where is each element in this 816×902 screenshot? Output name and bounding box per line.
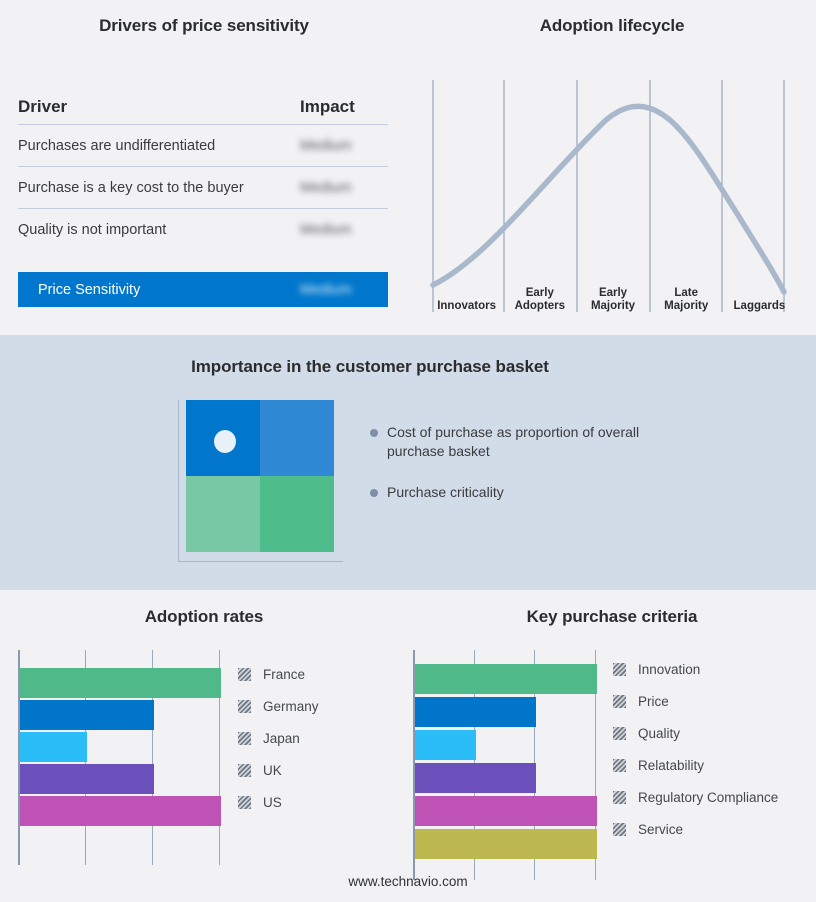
legend-item-service[interactable]: Service [613, 813, 778, 845]
impact-value-text: Medium [300, 138, 352, 154]
legend-item-purchase-criticality: Purchase criticality [370, 483, 700, 502]
bar-regulatory-compliance[interactable] [415, 796, 597, 826]
price-sensitivity-impact-redacted: Medium [300, 281, 388, 299]
hatch-swatch-icon [613, 663, 626, 676]
lifecycle-stage-late-majority: Late Majority [650, 273, 723, 313]
legend-item-us[interactable]: US [238, 786, 319, 818]
bell-curve-line [433, 106, 784, 292]
lifecycle-stage-labels: Innovators Early Adopters Early Majority… [430, 273, 796, 313]
stage-label-line: Laggards [734, 300, 786, 313]
hatch-swatch-icon [238, 700, 251, 713]
column-header-impact: Impact [300, 97, 388, 117]
bar-france[interactable] [20, 668, 221, 698]
legend-item-relatability[interactable]: Relatability [613, 749, 778, 781]
impact-value-text: Medium [300, 282, 352, 298]
legend-label: Germany [263, 699, 319, 714]
hatch-swatch-icon [238, 732, 251, 745]
impact-value-text: Medium [300, 222, 352, 238]
legend-item-label: Purchase criticality [387, 483, 504, 502]
footer-website-url[interactable]: www.technavio.com [0, 874, 816, 889]
lifecycle-stage-innovators: Innovators [430, 273, 503, 313]
criteria-bars [415, 650, 597, 880]
bar-japan[interactable] [20, 732, 87, 762]
lifecycle-panel-title: Adoption lifecycle [408, 16, 816, 36]
legend-item-quality[interactable]: Quality [613, 717, 778, 749]
stage-label-line: Innovators [437, 300, 496, 313]
purchase-basket-matrix [178, 400, 343, 565]
bar-uk[interactable] [20, 764, 154, 794]
stage-label-line: Early [599, 287, 627, 300]
adoption-rates-panel: Adoption rates France Germany Japan [0, 590, 408, 902]
bar-innovation[interactable] [415, 664, 597, 694]
drivers-panel-title: Drivers of price sensitivity [0, 16, 408, 36]
price-sensitivity-highlight-row[interactable]: Price Sensitivity Medium [18, 272, 388, 307]
bar-service[interactable] [415, 829, 597, 859]
legend-label: Relatability [638, 758, 704, 773]
matrix-quadrant-bottom-right[interactable] [260, 476, 334, 552]
stage-label-line: Late [674, 287, 698, 300]
legend-item-label: Cost of purchase as proportion of overal… [387, 423, 657, 461]
legend-item-regulatory-compliance[interactable]: Regulatory Compliance [613, 781, 778, 813]
legend-label: Price [638, 694, 669, 709]
drivers-table: Driver Impact Purchases are undifferenti… [18, 90, 388, 250]
adoption-rates-legend: France Germany Japan UK US [238, 658, 319, 818]
hatch-swatch-icon [238, 668, 251, 681]
bar-relatability[interactable] [415, 763, 536, 793]
key-purchase-criteria-title: Key purchase criteria [408, 607, 816, 627]
legend-item-uk[interactable]: UK [238, 754, 319, 786]
impact-value-text: Medium [300, 180, 352, 196]
bar-quality[interactable] [415, 730, 476, 760]
bar-us[interactable] [20, 796, 221, 826]
hatch-swatch-icon [238, 764, 251, 777]
driver-name: Purchases are undifferentiated [18, 138, 300, 154]
legend-label: UK [263, 763, 282, 778]
legend-label: Regulatory Compliance [638, 790, 778, 805]
legend-item-price[interactable]: Price [613, 685, 778, 717]
key-purchase-criteria-panel: Key purchase criteria Innovation Price Q… [408, 590, 816, 902]
hatch-swatch-icon [613, 695, 626, 708]
hatch-swatch-icon [613, 727, 626, 740]
driver-name: Quality is not important [18, 222, 300, 238]
lifecycle-stage-laggards: Laggards [723, 273, 796, 313]
matrix-y-axis [178, 400, 179, 562]
matrix-x-axis [178, 561, 343, 562]
impact-value-redacted: Medium [300, 138, 388, 154]
legend-item-germany[interactable]: Germany [238, 690, 319, 722]
price-sensitivity-label: Price Sensitivity [18, 282, 300, 298]
legend-label: Innovation [638, 662, 700, 677]
key-purchase-criteria-plot [413, 650, 597, 880]
legend-bullet-icon [370, 489, 378, 497]
legend-label: Service [638, 822, 683, 837]
importance-purchase-basket-panel: Importance in the customer purchase bask… [0, 335, 816, 590]
matrix-quadrant-top-left[interactable] [186, 400, 260, 476]
stage-label-line: Majority [591, 300, 635, 313]
legend-item-innovation[interactable]: Innovation [613, 653, 778, 685]
impact-value-redacted: Medium [300, 222, 388, 238]
driver-name: Purchase is a key cost to the buyer [18, 180, 300, 196]
bar-price[interactable] [415, 697, 536, 727]
table-row[interactable]: Purchase is a key cost to the buyer Medi… [18, 167, 388, 209]
matrix-position-marker[interactable] [214, 430, 236, 453]
hatch-swatch-icon [613, 823, 626, 836]
lifecycle-stage-early-adopters: Early Adopters [503, 273, 576, 313]
legend-label: France [263, 667, 305, 682]
legend-item-france[interactable]: France [238, 658, 319, 690]
matrix-quadrant-grid [186, 400, 334, 552]
key-purchase-criteria-legend: Innovation Price Quality Relatability Re… [613, 653, 778, 845]
table-row[interactable]: Quality is not important Medium [18, 209, 388, 250]
hatch-swatch-icon [613, 759, 626, 772]
adoption-rates-title: Adoption rates [0, 607, 408, 627]
hatch-swatch-icon [613, 791, 626, 804]
legend-label: Japan [263, 731, 300, 746]
legend-item-cost-of-purchase: Cost of purchase as proportion of overal… [370, 423, 700, 461]
stage-label-line: Majority [664, 300, 708, 313]
table-header-row: Driver Impact [18, 90, 388, 125]
adoption-rates-bars [20, 650, 222, 865]
matrix-quadrant-bottom-left[interactable] [186, 476, 260, 552]
legend-label: US [263, 795, 282, 810]
matrix-quadrant-top-right[interactable] [260, 400, 334, 476]
bar-germany[interactable] [20, 700, 154, 730]
legend-bullet-icon [370, 429, 378, 437]
stage-label-line: Early [526, 287, 554, 300]
table-row[interactable]: Purchases are undifferentiated Medium [18, 125, 388, 167]
column-header-driver: Driver [18, 97, 300, 117]
lifecycle-stage-early-majority: Early Majority [576, 273, 649, 313]
legend-item-japan[interactable]: Japan [238, 722, 319, 754]
importance-legend: Cost of purchase as proportion of overal… [370, 423, 700, 524]
adoption-rates-plot [18, 650, 222, 865]
importance-panel-title: Importance in the customer purchase bask… [0, 357, 740, 377]
impact-value-redacted: Medium [300, 180, 388, 196]
adoption-lifecycle-panel: Adoption lifecycle Innovators Early Adop… [408, 0, 816, 335]
stage-label-line: Adopters [515, 300, 565, 313]
legend-label: Quality [638, 726, 680, 741]
drivers-of-price-sensitivity-panel: Drivers of price sensitivity Driver Impa… [0, 0, 408, 335]
hatch-swatch-icon [238, 796, 251, 809]
